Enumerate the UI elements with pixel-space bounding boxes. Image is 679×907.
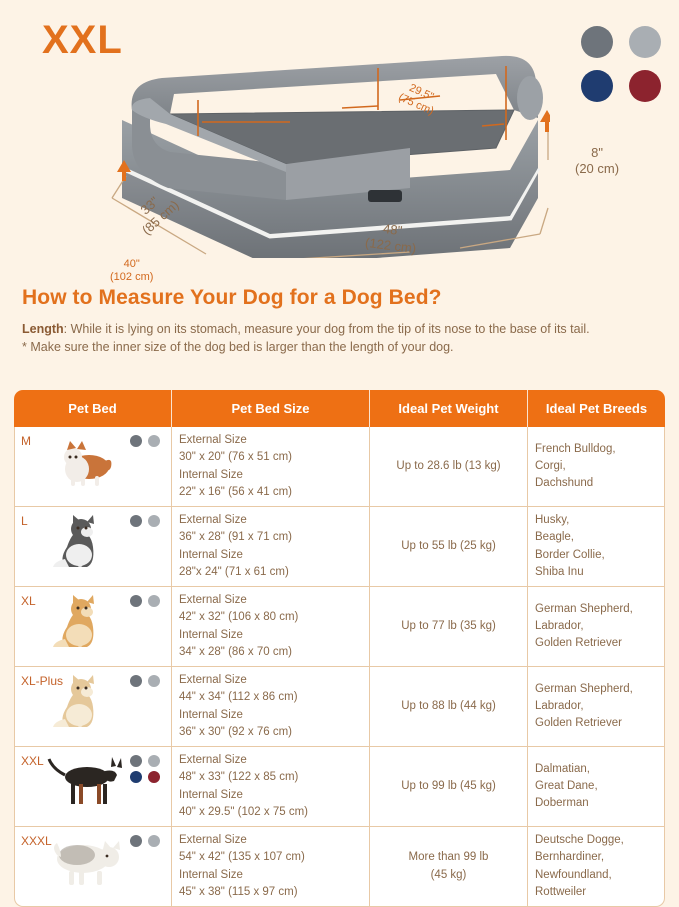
external-size-value: 48" x 33" (122 x 85 cm) — [179, 769, 362, 786]
cell-ideal-pet-breeds: Deutsche Dogge,Bernhardiner,Newfoundland… — [528, 827, 665, 907]
bed-back-bolster — [132, 56, 538, 118]
color-dot-group[interactable] — [130, 755, 161, 783]
breed-line: German Shepherd, — [535, 681, 657, 698]
dog-bed-svg — [110, 48, 550, 258]
weight-line: Up to 55 lb (25 kg) — [377, 538, 520, 555]
cell-pet-bed-size: External Size42" x 32" (106 x 80 cm)Inte… — [172, 587, 370, 667]
cell-pet-bed: XL — [14, 587, 172, 667]
cell-ideal-pet-weight: Up to 77 lb (35 kg) — [370, 587, 528, 667]
table-row: M External Size30" x 20" (76 x 51 cm)Int… — [14, 427, 665, 507]
length-text: : While it is lying on its stomach, meas… — [64, 322, 590, 336]
table-header-ideal-pet-breeds: Ideal Pet Breeds — [528, 390, 665, 427]
breed-line: Shiba Inu — [535, 564, 657, 581]
breed-line: Doberman — [535, 795, 657, 812]
dog-illustration-malamute — [43, 831, 129, 889]
cell-ideal-pet-weight: Up to 55 lb (25 kg) — [370, 507, 528, 587]
external-size-label: External Size — [179, 672, 362, 689]
length-instruction: Length: While it is lying on its stomach… — [22, 320, 662, 338]
color-dot[interactable] — [148, 835, 160, 847]
dog-illustration-border-collie — [43, 511, 129, 569]
internal-size-label: Internal Size — [179, 867, 362, 884]
bed-right-bolster-end — [517, 76, 543, 120]
internal-size-label: Internal Size — [179, 467, 362, 484]
table-row: XL External Size42" x 32" (106 x 80 cm)I… — [14, 587, 665, 667]
table-header-pet-bed-size: Pet Bed Size — [172, 390, 370, 427]
color-dot-group[interactable] — [130, 595, 161, 607]
breed-line: Newfoundland, — [535, 867, 657, 884]
breed-line: French Bulldog, — [535, 441, 657, 458]
color-swatch-light-gray[interactable] — [629, 26, 661, 58]
breed-line: Golden Retriever — [535, 715, 657, 732]
inner-width-dimension: 40" (102 cm) — [110, 258, 153, 283]
table-row: XXXL External Size54" x 42" (135 x 107 c… — [14, 827, 665, 907]
breed-line: Labrador, — [535, 618, 657, 635]
color-dot[interactable] — [130, 771, 142, 783]
external-size-value: 36" x 28" (91 x 71 cm) — [179, 529, 362, 546]
color-dot-group[interactable] — [130, 435, 161, 447]
internal-size-value: 34" x 28" (86 x 70 cm) — [179, 644, 362, 661]
internal-size-value: 45" x 38" (115 x 97 cm) — [179, 884, 362, 901]
cell-pet-bed: M — [14, 427, 172, 507]
dog-bed-illustration: 40" (102 cm) 29.5" (75 cm) — [110, 48, 550, 258]
cell-ideal-pet-breeds: German Shepherd,Labrador,Golden Retrieve… — [528, 667, 665, 747]
table-body: M External Size30" x 20" (76 x 51 cm)Int… — [14, 427, 665, 907]
cell-pet-bed: XL-Plus — [14, 667, 172, 747]
color-dot[interactable] — [148, 755, 160, 767]
table-header-ideal-pet-weight: Ideal Pet Weight — [370, 390, 528, 427]
bed-size-label: XL — [21, 592, 36, 610]
color-dot[interactable] — [148, 771, 160, 783]
height-arrow-icon — [540, 110, 550, 132]
height-dimension: 8" (20 cm) — [575, 145, 619, 176]
breed-line: German Shepherd, — [535, 601, 657, 618]
cell-pet-bed: L — [14, 507, 172, 587]
weight-line: (45 kg) — [377, 867, 520, 884]
color-dot[interactable] — [130, 515, 142, 527]
length-label: Length — [22, 322, 64, 336]
width-inches: 48" — [382, 221, 403, 238]
color-dot-group[interactable] — [130, 515, 161, 527]
weight-line: More than 99 lb — [377, 849, 520, 866]
dog-illustration-golden-retriever — [43, 591, 129, 649]
cell-ideal-pet-weight: Up to 88 lb (44 kg) — [370, 667, 528, 747]
bed-size-label: XXL — [21, 752, 44, 770]
external-size-value: 42" x 32" (106 x 80 cm) — [179, 609, 362, 626]
internal-size-label: Internal Size — [179, 707, 362, 724]
cell-ideal-pet-weight: Up to 28.6 lb (13 kg) — [370, 427, 528, 507]
color-dot[interactable] — [130, 675, 142, 687]
color-swatch-group[interactable] — [581, 26, 663, 102]
cell-pet-bed: XXXL — [14, 827, 172, 907]
weight-line: Up to 99 lb (45 kg) — [377, 778, 520, 795]
color-dot[interactable] — [148, 515, 160, 527]
brand-logo-patch — [368, 190, 402, 202]
color-dot[interactable] — [148, 595, 160, 607]
breed-line: Golden Retriever — [535, 635, 657, 652]
cell-pet-bed-size: External Size36" x 28" (91 x 71 cm)Inter… — [172, 507, 370, 587]
weight-line: Up to 77 lb (35 kg) — [377, 618, 520, 635]
cell-ideal-pet-breeds: Dalmatian,Great Dane,Doberman — [528, 747, 665, 827]
cell-ideal-pet-weight: More than 99 lb(45 kg) — [370, 827, 528, 907]
weight-line: Up to 28.6 lb (13 kg) — [377, 458, 520, 475]
internal-size-value: 28"x 24" (71 x 61 cm) — [179, 564, 362, 581]
external-size-label: External Size — [179, 432, 362, 449]
color-dot[interactable] — [130, 435, 142, 447]
table-row: XL-Plus External Size44" x 34" (112 x 86… — [14, 667, 665, 747]
color-dot-group[interactable] — [130, 835, 161, 847]
external-size-label: External Size — [179, 832, 362, 849]
internal-size-label: Internal Size — [179, 547, 362, 564]
external-size-value: 30" x 20" (76 x 51 cm) — [179, 449, 362, 466]
cell-pet-bed-size: External Size54" x 42" (135 x 107 cm)Int… — [172, 827, 370, 907]
cell-pet-bed-size: External Size48" x 33" (122 x 85 cm)Inte… — [172, 747, 370, 827]
color-swatch-navy-blue[interactable] — [581, 70, 613, 102]
table-header-row: Pet BedPet Bed SizeIdeal Pet WeightIdeal… — [14, 390, 665, 427]
breed-line: Corgi, — [535, 458, 657, 475]
cell-ideal-pet-breeds: Husky,Beagle,Border Collie,Shiba Inu — [528, 507, 665, 587]
breed-line: Border Collie, — [535, 547, 657, 564]
breed-line: Dalmatian, — [535, 761, 657, 778]
color-dot[interactable] — [148, 435, 160, 447]
width-dimension: 48" (122 cm) — [364, 219, 419, 256]
color-dot-group[interactable] — [130, 675, 161, 687]
inner-size-note: * Make sure the inner size of the dog be… — [22, 338, 662, 356]
inner-width-inches: 40" — [124, 258, 140, 270]
external-size-value: 44" x 34" (112 x 86 cm) — [179, 689, 362, 706]
internal-size-value: 40" x 29.5" (102 x 75 cm) — [179, 804, 362, 821]
color-swatch-dark-gray[interactable] — [581, 26, 613, 58]
table-row: L External Size36" x 28" (91 x 71 cm)Int… — [14, 507, 665, 587]
dog-illustration-corgi — [43, 431, 129, 489]
size-comparison-table: Pet BedPet Bed SizeIdeal Pet WeightIdeal… — [14, 390, 665, 907]
color-dot[interactable] — [148, 675, 160, 687]
breed-line: Great Dane, — [535, 778, 657, 795]
internal-size-label: Internal Size — [179, 627, 362, 644]
height-cm: (20 cm) — [575, 161, 619, 176]
measure-instructions: How to Measure Your Dog for a Dog Bed? L… — [22, 286, 662, 356]
dog-illustration-doberman — [43, 751, 129, 809]
inner-width-cm: (102 cm) — [110, 271, 153, 283]
external-size-label: External Size — [179, 592, 362, 609]
cell-ideal-pet-breeds: French Bulldog,Corgi,Dachshund — [528, 427, 665, 507]
internal-size-value: 36" x 30" (92 x 76 cm) — [179, 724, 362, 741]
color-dot[interactable] — [130, 835, 142, 847]
breed-line: Labrador, — [535, 698, 657, 715]
weight-line: Up to 88 lb (44 kg) — [377, 698, 520, 715]
table-header-pet-bed: Pet Bed — [14, 390, 172, 427]
external-size-value: 54" x 42" (135 x 107 cm) — [179, 849, 362, 866]
internal-size-label: Internal Size — [179, 787, 362, 804]
height-inches: 8" — [591, 145, 603, 160]
breed-line: Deutsche Dogge, — [535, 832, 657, 849]
cell-pet-bed-size: External Size30" x 20" (76 x 51 cm)Inter… — [172, 427, 370, 507]
dog-illustration-labrador — [43, 671, 129, 729]
breed-line: Dachshund — [535, 475, 657, 492]
hero-section: XXL — [0, 0, 679, 278]
internal-size-value: 22" x 16" (56 x 41 cm) — [179, 484, 362, 501]
breed-line: Husky, — [535, 512, 657, 529]
section-heading: How to Measure Your Dog for a Dog Bed? — [22, 286, 662, 310]
table-row: XXL External Size48" x 33" (122 x 85 cm)… — [14, 747, 665, 827]
cell-ideal-pet-breeds: German Shepherd,Labrador,Golden Retrieve… — [528, 587, 665, 667]
bed-size-label: M — [21, 432, 31, 450]
breed-line: Rottweiler — [535, 884, 657, 901]
cell-pet-bed: XXL — [14, 747, 172, 827]
color-dot[interactable] — [130, 595, 142, 607]
cell-ideal-pet-weight: Up to 99 lb (45 kg) — [370, 747, 528, 827]
bed-size-label: L — [21, 512, 28, 530]
external-size-label: External Size — [179, 512, 362, 529]
cell-pet-bed-size: External Size44" x 34" (112 x 86 cm)Inte… — [172, 667, 370, 747]
color-swatch-dark-red[interactable] — [629, 70, 661, 102]
external-size-label: External Size — [179, 752, 362, 769]
breed-line: Beagle, — [535, 529, 657, 546]
breed-line: Bernhardiner, — [535, 849, 657, 866]
color-dot[interactable] — [130, 755, 142, 767]
